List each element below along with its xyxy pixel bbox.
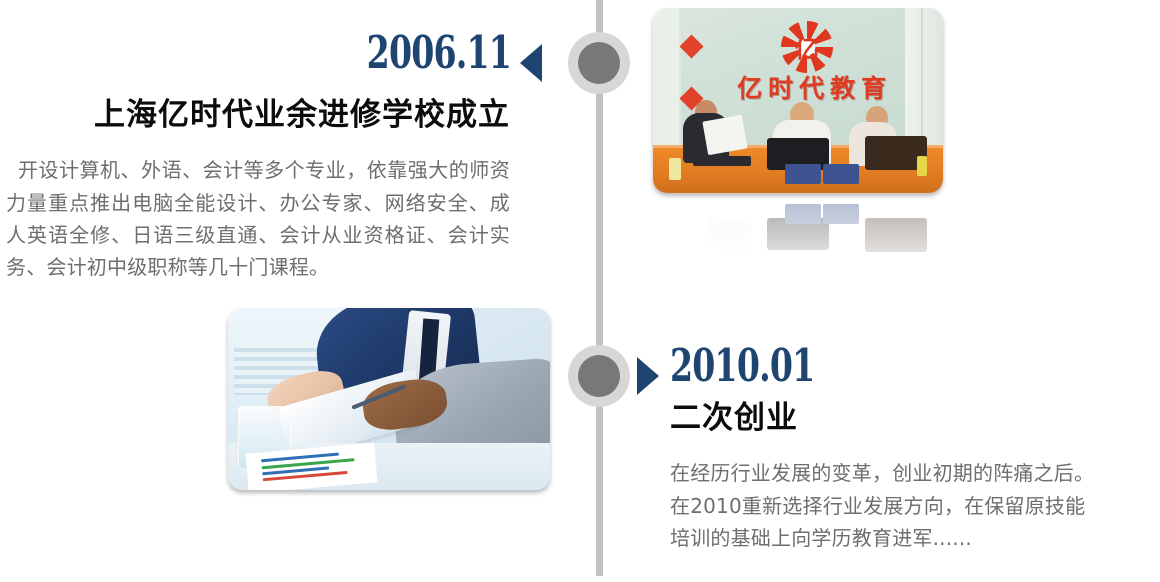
photo-reflection [653,195,943,285]
entry-body-text: 开设计算机、外语、会计等多个专业，依靠强大的师资力量重点推出电脑全能设计、办公专… [0,154,516,284]
laptop-mirror [865,218,927,252]
folder-mirror [823,204,859,224]
paper-mirror [703,216,754,254]
paper-sheet [702,115,747,155]
folder-stack [785,164,821,184]
timeline-marker-2010 [568,345,630,407]
arrow-left-icon [520,44,542,82]
arrow-right-icon [637,357,659,395]
entry-year: 2006.11 [93,30,516,75]
timeline-entry-2010: 2010.01 二次创业 在经历行业发展的变革，创业初期的阵痛之后。在2010重… [670,343,1140,554]
business-tablet-photo [228,308,550,582]
entry-title: 上海亿时代业余进修学校成立 [0,97,516,134]
entry-body-text: 在经历行业发展的变革，创业初期的阵痛之后。在2010重新选择行业发展方向，在保留… [670,457,1100,554]
timeline-marker-core [578,355,620,397]
timeline-marker-2006 [568,32,630,94]
entry-title: 二次创业 [670,400,1140,437]
timeline-entry-2006: 2006.11 上海亿时代业余进修学校成立 开设计算机、外语、会计等多个专业，依… [0,30,516,284]
photo-frame: 亿时代教育 [653,8,943,193]
business-scene [228,308,550,490]
office-scene: 亿时代教育 [653,8,943,193]
cup [917,156,927,176]
entry-year: 2010.01 [670,343,1055,388]
company-logo-icon [781,21,833,73]
timeline-marker-core [578,42,620,84]
office-reception-photo: 亿时代教育 [653,8,943,285]
photo-reflection [228,492,550,582]
folder-stack [823,164,859,184]
office-left-panel [653,8,681,150]
cup [669,158,681,180]
laptop-base [693,156,751,166]
office-right-panel [905,8,943,150]
office-sign-text: 亿时代教育 [737,69,892,105]
folder-mirror [785,204,821,224]
photo-frame [228,308,550,490]
